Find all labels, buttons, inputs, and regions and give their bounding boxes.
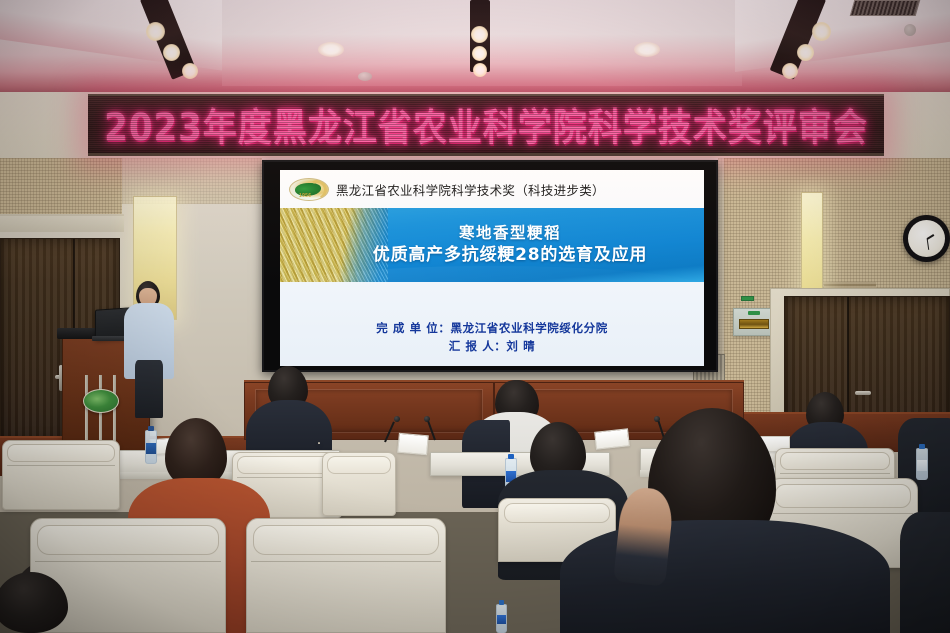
ceiling-spotlight bbox=[146, 22, 165, 41]
bottle-cap bbox=[499, 600, 504, 605]
ceiling-spotlight bbox=[782, 63, 798, 79]
ceiling-vent bbox=[850, 0, 921, 16]
slide-title-line-2: 优质高产多抗绥粳28的选育及应用 bbox=[373, 244, 647, 267]
bottle-label bbox=[917, 460, 927, 470]
panel-display-strip bbox=[739, 319, 769, 329]
chair-empty[interactable] bbox=[2, 440, 120, 510]
ceiling-spotlight bbox=[473, 63, 487, 77]
slide-header: 1956 黑龙江省农业科学院科学技术奖（科技进步类） bbox=[280, 170, 704, 208]
chair-headrest bbox=[253, 525, 439, 555]
smoke-detector-icon bbox=[358, 72, 372, 81]
chair-headrest bbox=[780, 452, 890, 470]
ceiling-spotlight bbox=[797, 44, 814, 61]
bottle-cap bbox=[919, 444, 925, 449]
slide-header-text: 黑龙江省农业科学院科学技术奖（科技进步类） bbox=[336, 180, 605, 199]
chair-empty[interactable] bbox=[322, 452, 396, 516]
water-bottle bbox=[496, 604, 507, 633]
academy-emblem-icon: 1956 bbox=[289, 178, 329, 201]
slide-title-line-1: 寒地香型粳稻 bbox=[373, 223, 647, 244]
slide-footer-unit: 完 成 单 位：黑龙江省农业科学院绥化分院 bbox=[280, 320, 704, 338]
projection-screen: 1956 黑龙江省农业科学院科学技术奖（科技进步类） 寒地香型粳稻 优质高产多抗… bbox=[262, 160, 718, 372]
attendee-foreground-right bbox=[900, 512, 950, 633]
bottle-cap bbox=[148, 426, 154, 431]
microphone-head bbox=[394, 416, 400, 422]
ceiling-spotlight bbox=[812, 22, 831, 41]
smoke-detector-icon bbox=[904, 24, 916, 36]
chair-front-center[interactable] bbox=[246, 518, 446, 633]
slide-title-band: 寒地香型粳稻 优质高产多抗绥粳28的选育及应用 bbox=[280, 208, 704, 282]
attendee-foreground-body bbox=[560, 520, 890, 633]
ceiling-downlight bbox=[634, 42, 660, 57]
wall-clock bbox=[903, 215, 950, 262]
ceiling-spotlight bbox=[163, 44, 180, 61]
spacer bbox=[318, 442, 320, 444]
chair-seam bbox=[7, 465, 115, 466]
bottle-label bbox=[146, 443, 156, 454]
door-handle[interactable] bbox=[855, 391, 871, 395]
chair-seam bbox=[251, 561, 441, 562]
paper-sheet bbox=[594, 428, 630, 449]
podium-emblem-icon bbox=[83, 389, 119, 413]
paper-sheet bbox=[397, 433, 429, 456]
chair-seam bbox=[780, 473, 890, 474]
bottle-cap bbox=[508, 454, 514, 459]
slide-title: 寒地香型粳稻 优质高产多抗绥粳28的选育及应用 bbox=[337, 223, 647, 267]
led-banner: 2023年度黑龙江省农业科学院科学技术奖评审会 bbox=[88, 94, 884, 156]
conference-room-photo: 2023年度黑龙江省农业科学院科学技术奖评审会 1956 黑龙江省农业科学院科学… bbox=[0, 0, 950, 633]
bottle-label bbox=[497, 615, 506, 624]
ceiling-spotlight bbox=[472, 46, 487, 61]
microphone-head bbox=[654, 416, 660, 422]
chair-headrest bbox=[327, 456, 391, 474]
chair-seam bbox=[35, 561, 221, 562]
chair-headrest bbox=[37, 525, 219, 555]
water-bottle bbox=[145, 430, 157, 464]
water-bottle bbox=[916, 448, 928, 480]
wall-band bbox=[0, 216, 124, 232]
ceiling-spotlight bbox=[182, 63, 198, 79]
chair-seam bbox=[773, 513, 913, 514]
ceiling-spotlight bbox=[471, 26, 488, 43]
ceiling-downlight bbox=[318, 42, 344, 57]
clock-face bbox=[908, 220, 945, 257]
led-banner-text: 2023年度黑龙江省农业科学院科学技术奖评审会 bbox=[104, 97, 868, 152]
presentation-slide: 1956 黑龙江省农业科学院科学技术奖（科技进步类） 寒地香型粳稻 优质高产多抗… bbox=[280, 170, 704, 366]
presenter-lower-body bbox=[135, 360, 163, 418]
microphone-head bbox=[424, 416, 430, 422]
slide-footer: 完 成 单 位：黑龙江省农业科学院绥化分院 汇 报 人：刘 晴 bbox=[280, 320, 704, 356]
chair-headrest bbox=[504, 503, 610, 523]
panel-led-indicator bbox=[748, 311, 760, 315]
chair-headrest bbox=[775, 484, 911, 508]
av-control-panel[interactable] bbox=[733, 308, 775, 336]
wall-texture-panel bbox=[0, 158, 122, 216]
clock-minute-hand bbox=[926, 238, 929, 249]
exit-sign bbox=[741, 296, 754, 301]
slide-footer-presenter: 汇 报 人：刘 晴 bbox=[280, 338, 704, 356]
emblem-year-text: 1956 bbox=[299, 193, 311, 199]
chair-headrest bbox=[7, 444, 115, 462]
